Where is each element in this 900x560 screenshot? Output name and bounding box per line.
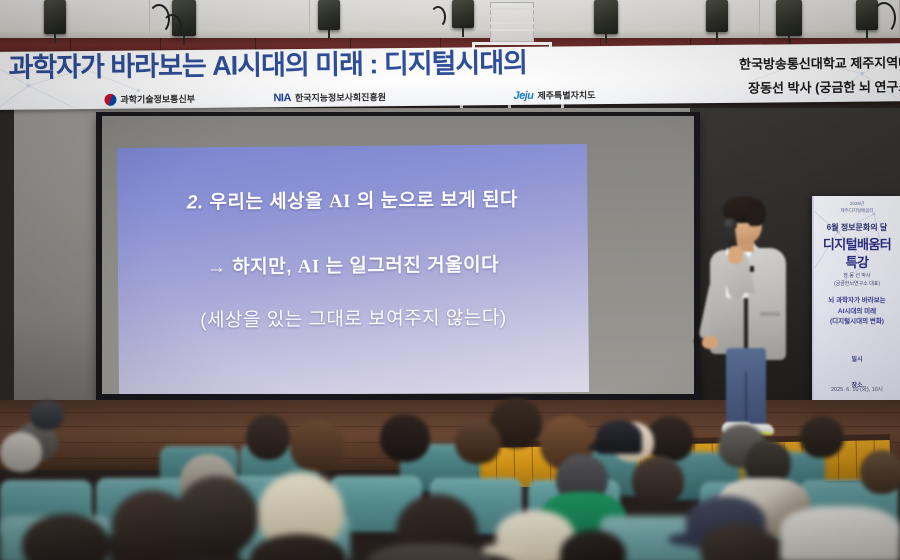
audience-head — [380, 414, 430, 462]
logo-msit: 과학기술정보통신부 — [104, 92, 195, 106]
presentation-slide: 2. 우리는 세상을 AI 의 눈으로 보게 된다 → 하지만, AI 는 일그… — [117, 144, 589, 394]
taegeuk-icon — [104, 93, 116, 105]
logo-jeju-label: 제주특별자치도 — [537, 88, 595, 102]
logo-nia-label: 한국지능정보사회진흥원 — [295, 90, 386, 104]
rollup-title-1: 디지털배움터 — [814, 234, 900, 253]
audience-torso — [780, 506, 900, 560]
rollup-speaker: 장 동 선 박사 (궁금한뇌연구소 대표) — [814, 272, 900, 288]
rollup-when-label: 일시 — [851, 357, 862, 363]
banner-right-line-2: 장동선 박사 (궁금한 뇌 연구소 — [748, 76, 900, 97]
audience-head — [246, 414, 290, 460]
slide-line-1-number: 2. — [187, 192, 204, 213]
rollup-program: 제주디지털배움터 — [840, 208, 873, 213]
audience-head — [30, 400, 64, 430]
audience-head — [800, 416, 844, 458]
slide-line-2-text-a: 하지만, — [232, 257, 292, 279]
rollup-subtitle: 뇌 과학자가 바라보는 AI시대의 미래 (디지털시대의 변화) — [814, 296, 900, 328]
presenter-hair-back — [748, 200, 766, 226]
jeju-wordmark-icon: Jeju — [513, 89, 533, 101]
audience-head — [290, 420, 344, 472]
rollup-title-2: 특강 — [814, 252, 900, 271]
arrow-right-icon: → — [207, 257, 227, 278]
audience-cap-icon — [596, 420, 642, 454]
stage-light — [594, 0, 618, 34]
rollup-speaker-name: 장 동 선 박사 — [843, 273, 870, 279]
back-wall-dark-left — [0, 108, 14, 408]
hanging-cable — [162, 14, 182, 40]
rollup-month-line: 6월 정보문화의 달 — [814, 222, 900, 233]
rollup-subtitle-1: 뇌 과학자가 바라보는 — [828, 297, 885, 304]
stage-light — [706, 0, 728, 32]
audience-head — [176, 476, 258, 556]
slide-line-3: (세상을 있는 그대로 보여주지 않는다) — [118, 302, 588, 333]
rollup-banner: 2025년 제주디지털배움터 6월 정보문화의 달 디지털배움터 특강 장 동 … — [812, 196, 900, 401]
slide-line-1-text-a: 우리는 세상을 — [209, 191, 323, 213]
stage-light — [318, 0, 340, 30]
presenter-right-hand — [728, 246, 743, 264]
slide-line-2: → 하지만, AI 는 일그러진 거울이다 — [118, 249, 588, 280]
slide-line-2-text-b: 는 일그러진 거울이다 — [326, 255, 500, 278]
audience — [0, 396, 900, 560]
rollup-year: 2025년 — [850, 201, 864, 206]
logo-jeju: Jeju 제주특별자치도 — [513, 88, 595, 102]
hanging-cable — [872, 2, 896, 34]
hanging-cable — [430, 6, 446, 28]
nia-wordmark-icon: NIA — [273, 92, 291, 104]
projection-screen: 2. 우리는 세상을 AI 의 눈으로 보게 된다 → 하지만, AI 는 일그… — [102, 116, 694, 394]
projection-screen-frame: 2. 우리는 세상을 AI 의 눈으로 보게 된다 → 하지만, AI 는 일그… — [96, 112, 700, 400]
slide-line-1: 2. 우리는 세상을 AI 의 눈으로 보게 된다 — [117, 184, 587, 215]
audience-head — [455, 420, 501, 464]
audience-head — [0, 432, 42, 472]
rollup-speaker-affiliation: (궁금한뇌연구소 대표) — [834, 281, 880, 287]
logo-msit-label: 과학기술정보통신부 — [120, 92, 195, 106]
rollup-where-label: 장소 — [851, 383, 862, 389]
presenter-jacket-pocket — [760, 312, 780, 316]
slide-line-2-ai: AI — [298, 256, 320, 277]
rollup-top-lines: 2025년 제주디지털배움터 — [814, 201, 900, 215]
event-banner: 뇌 과학자가 바라보는 AI시대의 미래 : 디지털시대의 과학기술정보통신부 … — [0, 43, 900, 110]
rollup-subtitle-2: AI시대의 미래 — [838, 308, 876, 315]
banner-right-line-1: 한국방송통신대학교 제주지역대 — [739, 52, 900, 73]
logo-nia: NIA 한국지능정보사회진흥원 — [273, 90, 386, 104]
rollup-subtitle-3: (디지털시대의 변화) — [830, 318, 884, 325]
audience-head — [632, 456, 684, 506]
audience-head — [860, 450, 900, 494]
lavalier-mic-icon — [750, 266, 754, 272]
stage-light — [44, 0, 66, 34]
microphone-head-icon — [724, 218, 737, 231]
slide-line-1-ai: AI — [329, 191, 351, 212]
slide-line-1-text-b: 의 눈으로 보게 된다 — [357, 190, 518, 212]
presenter-left-hand — [702, 336, 718, 349]
presenter-jacket-right — [748, 248, 786, 360]
photo-canvas: 뇌 과학자가 바라보는 AI시대의 미래 : 디지털시대의 과학기술정보통신부 … — [0, 0, 900, 560]
stage-light — [776, 0, 802, 36]
